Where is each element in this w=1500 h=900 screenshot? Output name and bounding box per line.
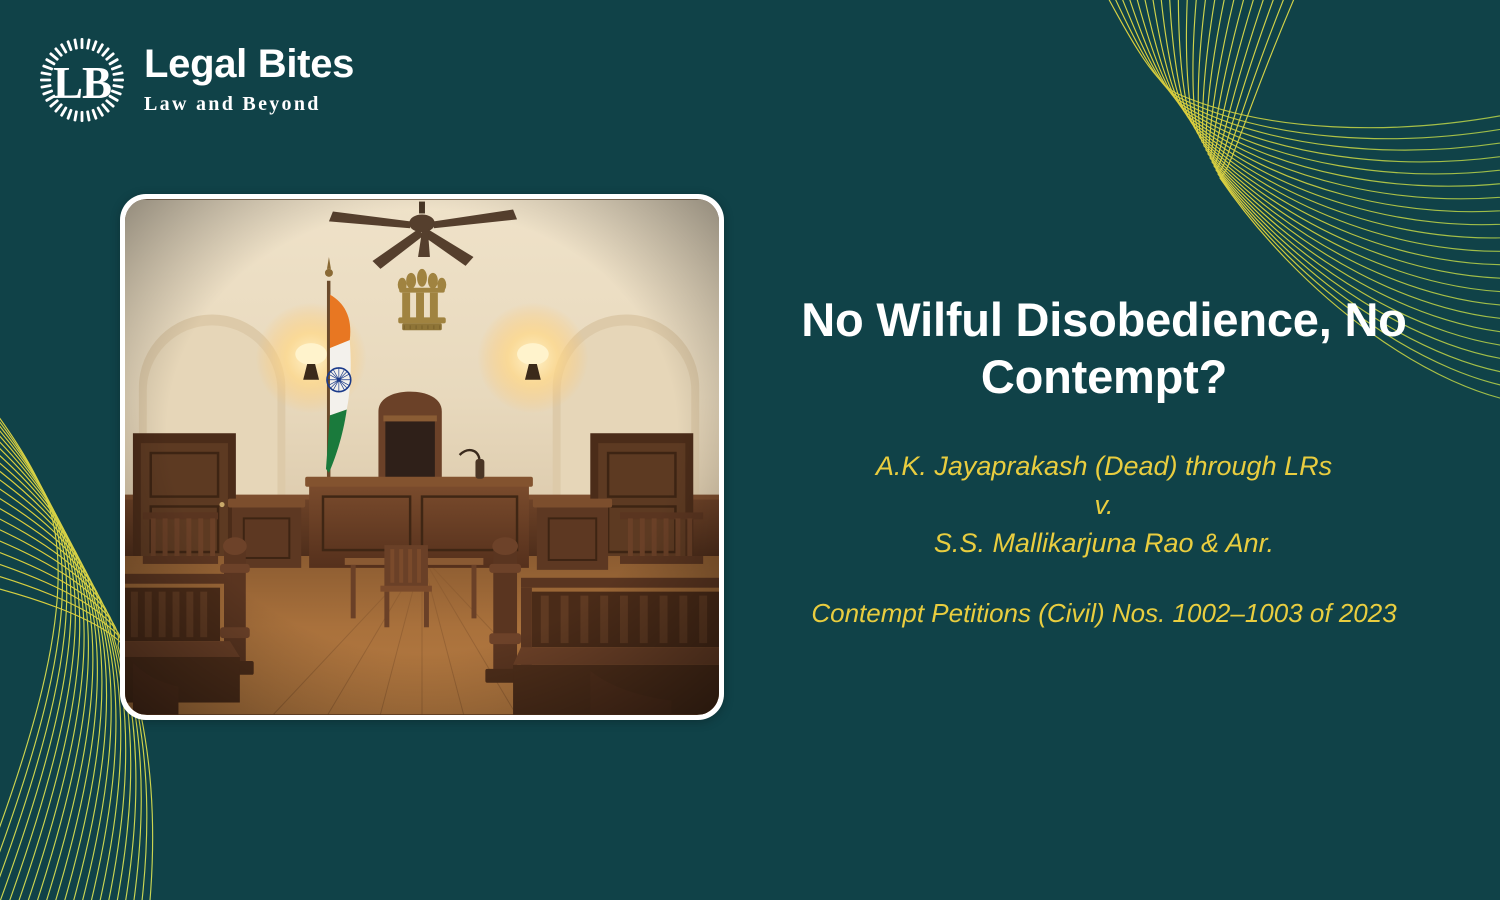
content-column: No Wilful Disobedience, No Contempt? A.K… [746, 150, 1462, 770]
case-respondent: S.S. Mallikarjuna Rao & Anr. [876, 524, 1332, 562]
courtroom-photo-frame [120, 194, 724, 720]
svg-text:LB: LB [53, 58, 111, 108]
poster-canvas: LB Legal Bites Law and Beyond [0, 0, 1500, 900]
brand-tagline: Law and Beyond [144, 93, 354, 116]
brand-name: Legal Bites [144, 44, 354, 84]
case-versus: v. [876, 486, 1332, 524]
petition-number: Contempt Petitions (Civil) Nos. 1002–100… [811, 598, 1396, 629]
case-citation: A.K. Jayaprakash (Dead) through LRs v. S… [876, 447, 1332, 562]
page-title: No Wilful Disobedience, No Contempt? [774, 291, 1434, 406]
lb-monogram-sunburst-icon: LB [36, 34, 128, 126]
brand-logo[interactable]: LB Legal Bites Law and Beyond [36, 34, 354, 126]
case-petitioner: A.K. Jayaprakash (Dead) through LRs [876, 447, 1332, 485]
courtroom-photo [125, 199, 719, 715]
